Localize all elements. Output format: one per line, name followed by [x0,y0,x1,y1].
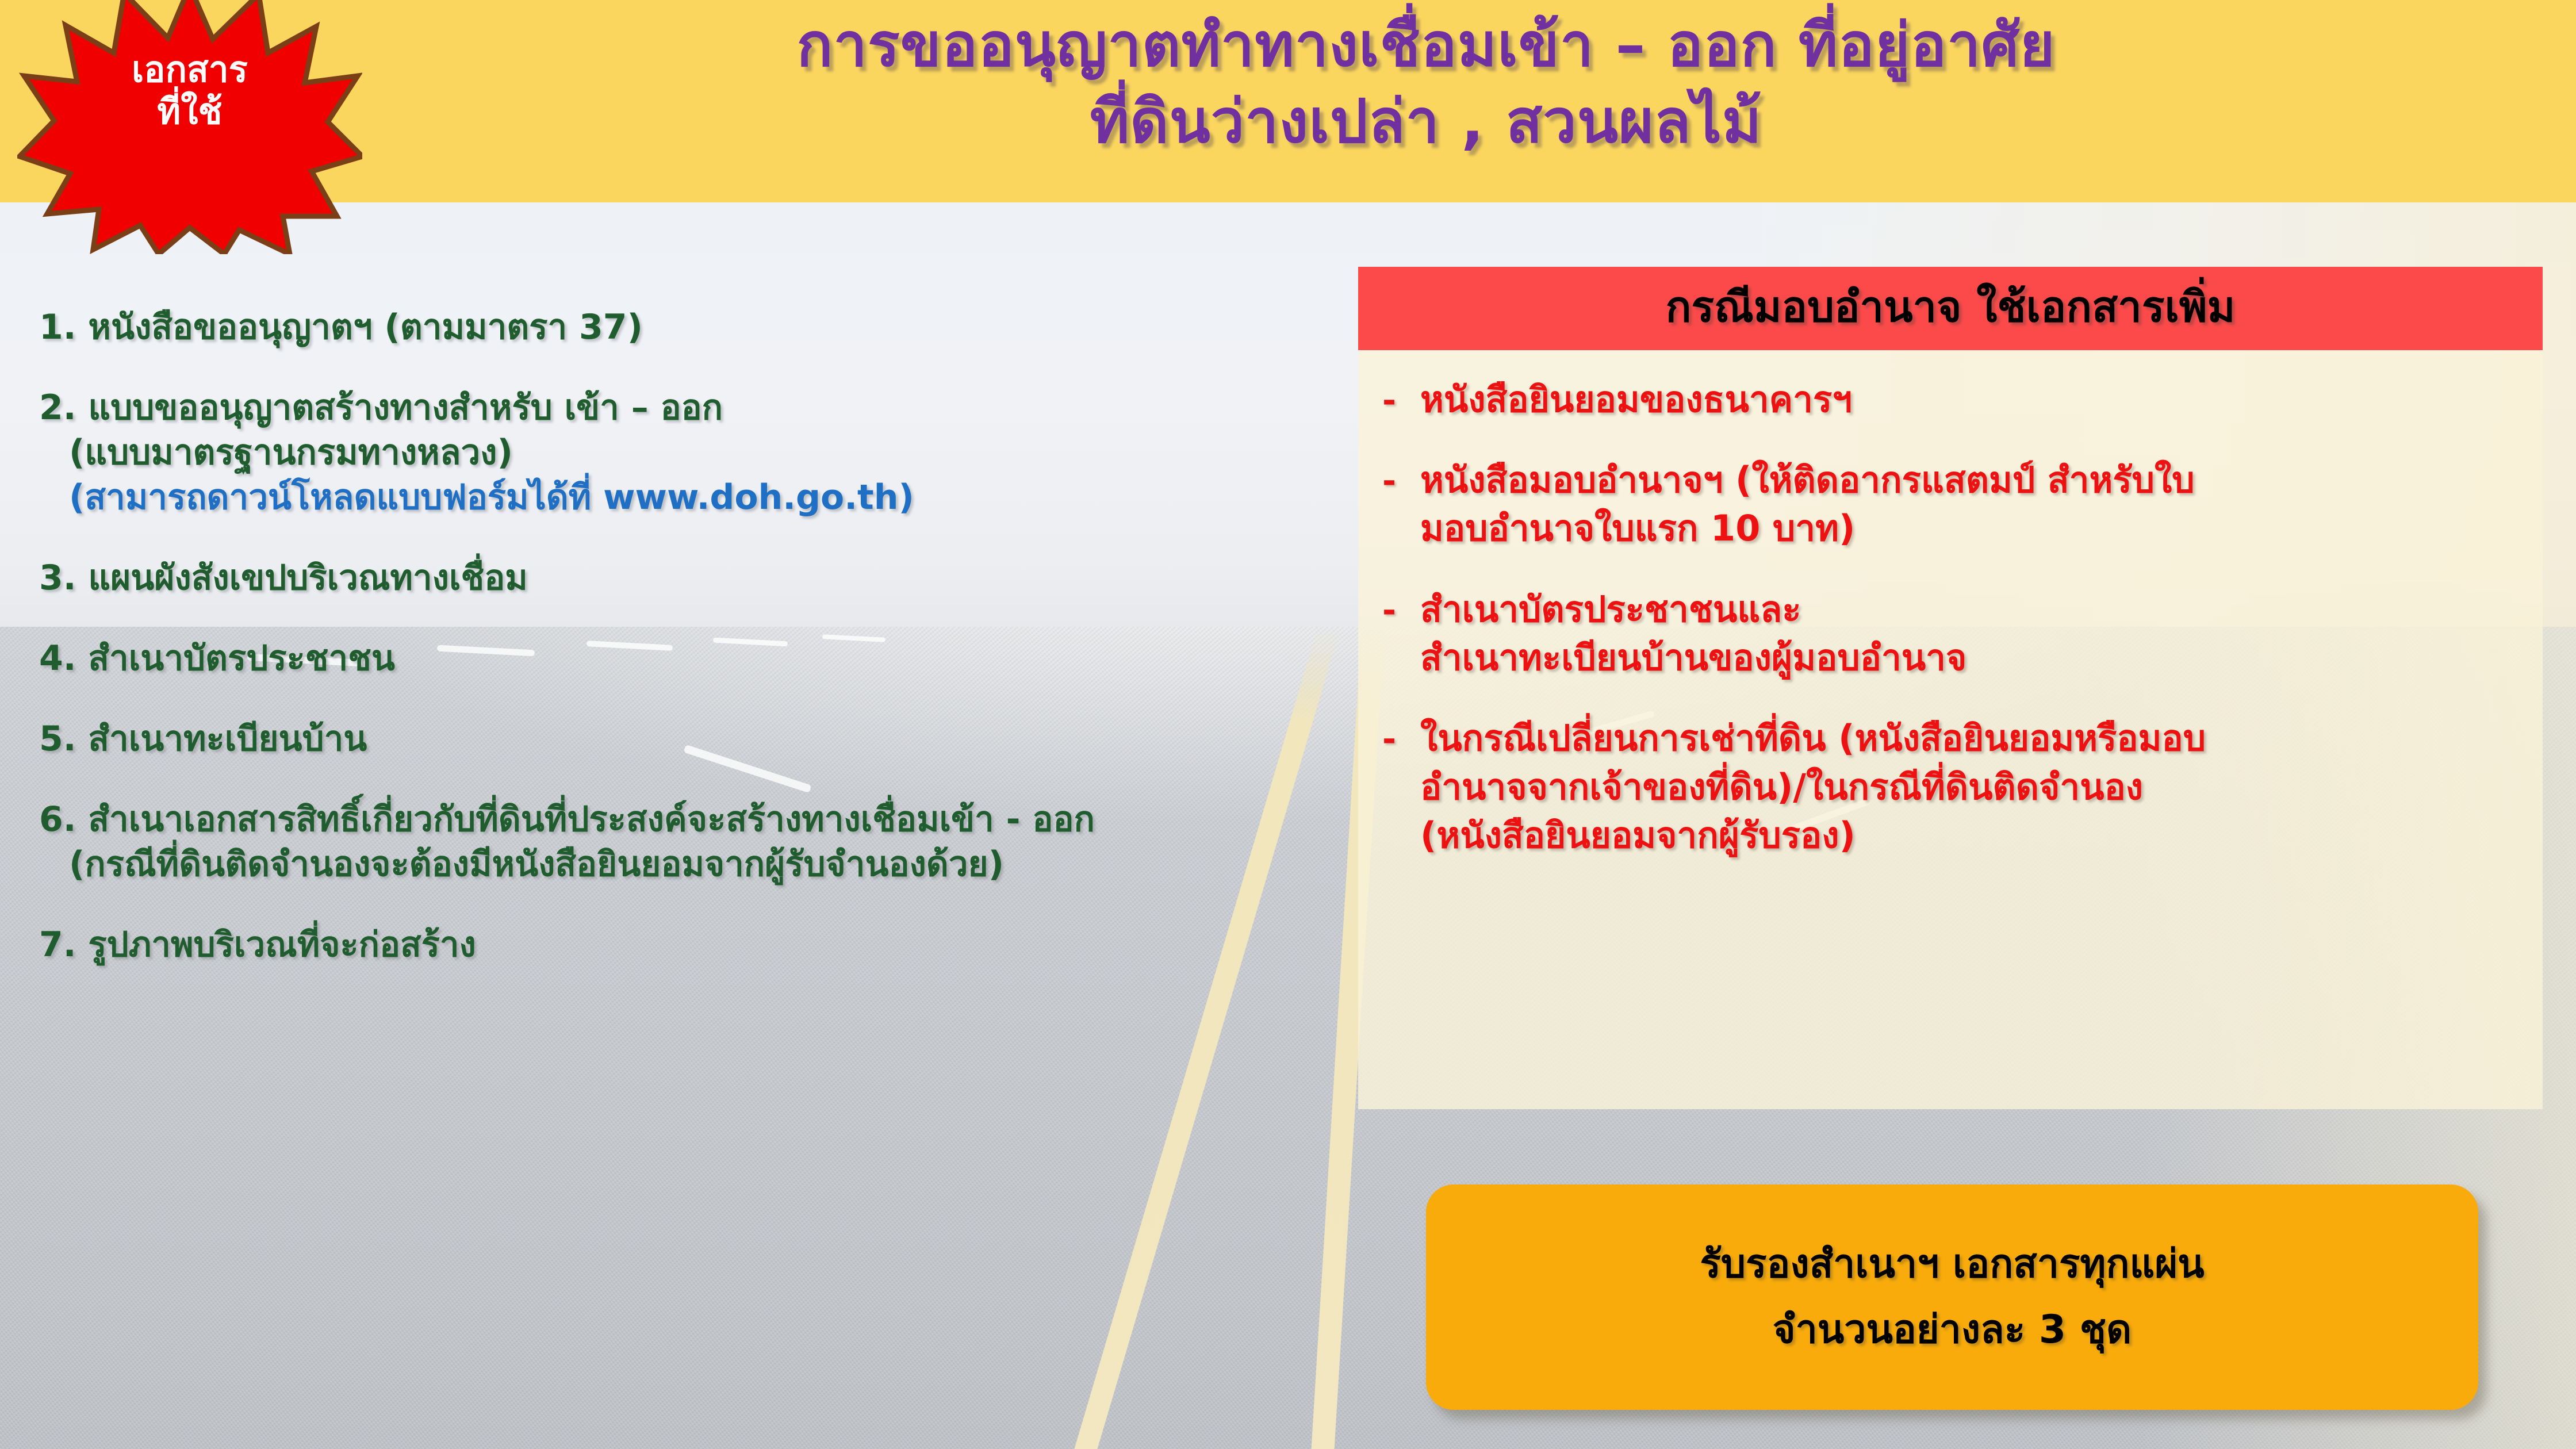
list-item: - หนังสือมอบอำนาจฯ (ให้ติดอากรแสตมป์ สำห… [1358,456,2523,553]
title-line-1: การขออนุญาตทำทางเชื่อมเข้า – ออก ที่อยู่… [402,7,2449,83]
list-item: 2. แบบขออนุญาตสร้างทางสำหรับ เข้า – ออก … [39,385,1356,520]
callout-line-2: จำนวนอย่างละ 3 ชุด [1773,1304,2132,1356]
bullet-line: สำเนาทะเบียนบ้านของผู้มอบอำนาจ [1420,634,2523,682]
bullet-text: ในกรณีเปลี่ยนการเช่าที่ดิน (หนังสือยินยอ… [1420,714,2523,860]
list-item: 3. แผนผังสังเขปบริเวณทางเชื่อม [39,555,1356,600]
authorization-panel-header: กรณีมอบอำนาจ ใช้เอกสารเพิ่ม [1358,267,2543,350]
bullet-text: สำเนาบัตรประชาชนและ สำเนาทะเบียนบ้านของผ… [1420,585,2523,683]
bullet-line: สำเนาบัตรประชาชนและ [1420,585,2523,634]
title-line-2: ที่ดินว่างเปล่า , สวนผลไม้ [402,83,2449,160]
authorization-panel: กรณีมอบอำนาจ ใช้เอกสารเพิ่ม - หนังสือยิน… [1358,267,2543,1109]
doc-main-text: 6. สำเนาเอกสารสิทธิ์เกี่ยวกับที่ดินที่ปร… [39,799,1095,839]
dash-bullet-icon: - [1358,456,1420,503]
bullet-line: (หนังสือยินยอมจากผู้รับรอง) [1420,811,2523,860]
bullet-text: หนังสือยินยอมของธนาคารฯ [1420,375,2523,424]
bullet-text: หนังสือมอบอำนาจฯ (ให้ติดอากรแสตมป์ สำหรั… [1420,456,2523,553]
bullet-line: ในกรณีเปลี่ยนการเช่าที่ดิน (หนังสือยินยอ… [1420,714,2523,762]
doc-main-text: 7. รูปภาพบริเวณที่จะก่อสร้าง [39,925,476,965]
bullet-line: หนังสือยินยอมของธนาคารฯ [1420,375,2523,424]
required-documents-list: 1. หนังสือขออนุญาตฯ (ตามมาตรา 37) 2. แบบ… [39,305,1356,1003]
doc-download-url[interactable]: (สามารถดาวน์โหลดแบบฟอร์มได้ที่ www.doh.g… [39,475,1356,520]
bullet-line: อำนาจจากเจ้าของที่ดิน)/ในกรณีที่ดินติดจำ… [1420,763,2523,811]
list-item: - สำเนาบัตรประชาชนและ สำเนาทะเบียนบ้านขอ… [1358,585,2523,683]
slide-canvas: การขออนุญาตทำทางเชื่อมเข้า – ออก ที่อยู่… [0,0,2576,1449]
certification-callout: รับรองสำเนาฯ เอกสารทุกแผ่น จำนวนอย่างละ … [1426,1184,2478,1410]
list-item: - ในกรณีเปลี่ยนการเช่าที่ดิน (หนังสือยิน… [1358,714,2523,860]
doc-sub-text: (แบบมาตรฐานกรมทางหลวง) [39,430,1356,475]
doc-main-text: 1. หนังสือขออนุญาตฯ (ตามมาตรา 37) [39,307,643,347]
doc-main-text: 4. สำเนาบัตรประชาชน [39,638,395,678]
doc-main-text: 2. แบบขออนุญาตสร้างทางสำหรับ เข้า – ออก [39,388,723,428]
dash-bullet-icon: - [1358,714,1420,761]
authorization-panel-body: - หนังสือยินยอมของธนาคารฯ - หนังสือมอบอำ… [1358,350,2543,1109]
list-item: 1. หนังสือขออนุญาตฯ (ตามมาตรา 37) [39,305,1356,350]
doc-main-text: 3. แผนผังสังเขปบริเวณทางเชื่อม [39,558,528,598]
bullet-line: หนังสือมอบอำนาจฯ (ให้ติดอากรแสตมป์ สำหรั… [1420,456,2523,504]
list-item: 6. สำเนาเอกสารสิทธิ์เกี่ยวกับที่ดินที่ปร… [39,797,1356,887]
doc-sub-text: (กรณีที่ดินติดจำนองจะต้องมีหนังสือยินยอม… [39,842,1356,887]
list-item: 4. สำเนาบัตรประชาชน [39,636,1356,681]
bullet-line: มอบอำนาจใบแรก 10 บาท) [1420,504,2523,553]
dash-bullet-icon: - [1358,375,1420,422]
doc-main-text: 5. สำเนาทะเบียนบ้าน [39,719,367,759]
list-item: 7. รูปภาพบริเวณที่จะก่อสร้าง [39,922,1356,967]
documents-badge: เอกสาร ที่ใช้ [17,0,362,254]
starburst-icon [17,0,362,254]
dash-bullet-icon: - [1358,585,1420,632]
page-title: การขออนุญาตทำทางเชื่อมเข้า – ออก ที่อยู่… [402,7,2449,160]
list-item: - หนังสือยินยอมของธนาคารฯ [1358,375,2523,424]
list-item: 5. สำเนาทะเบียนบ้าน [39,716,1356,761]
callout-line-1: รับรองสำเนาฯ เอกสารทุกแผ่น [1700,1239,2204,1290]
authorization-panel-title: กรณีมอบอำนาจ ใช้เอกสารเพิ่ม [1375,282,2525,333]
